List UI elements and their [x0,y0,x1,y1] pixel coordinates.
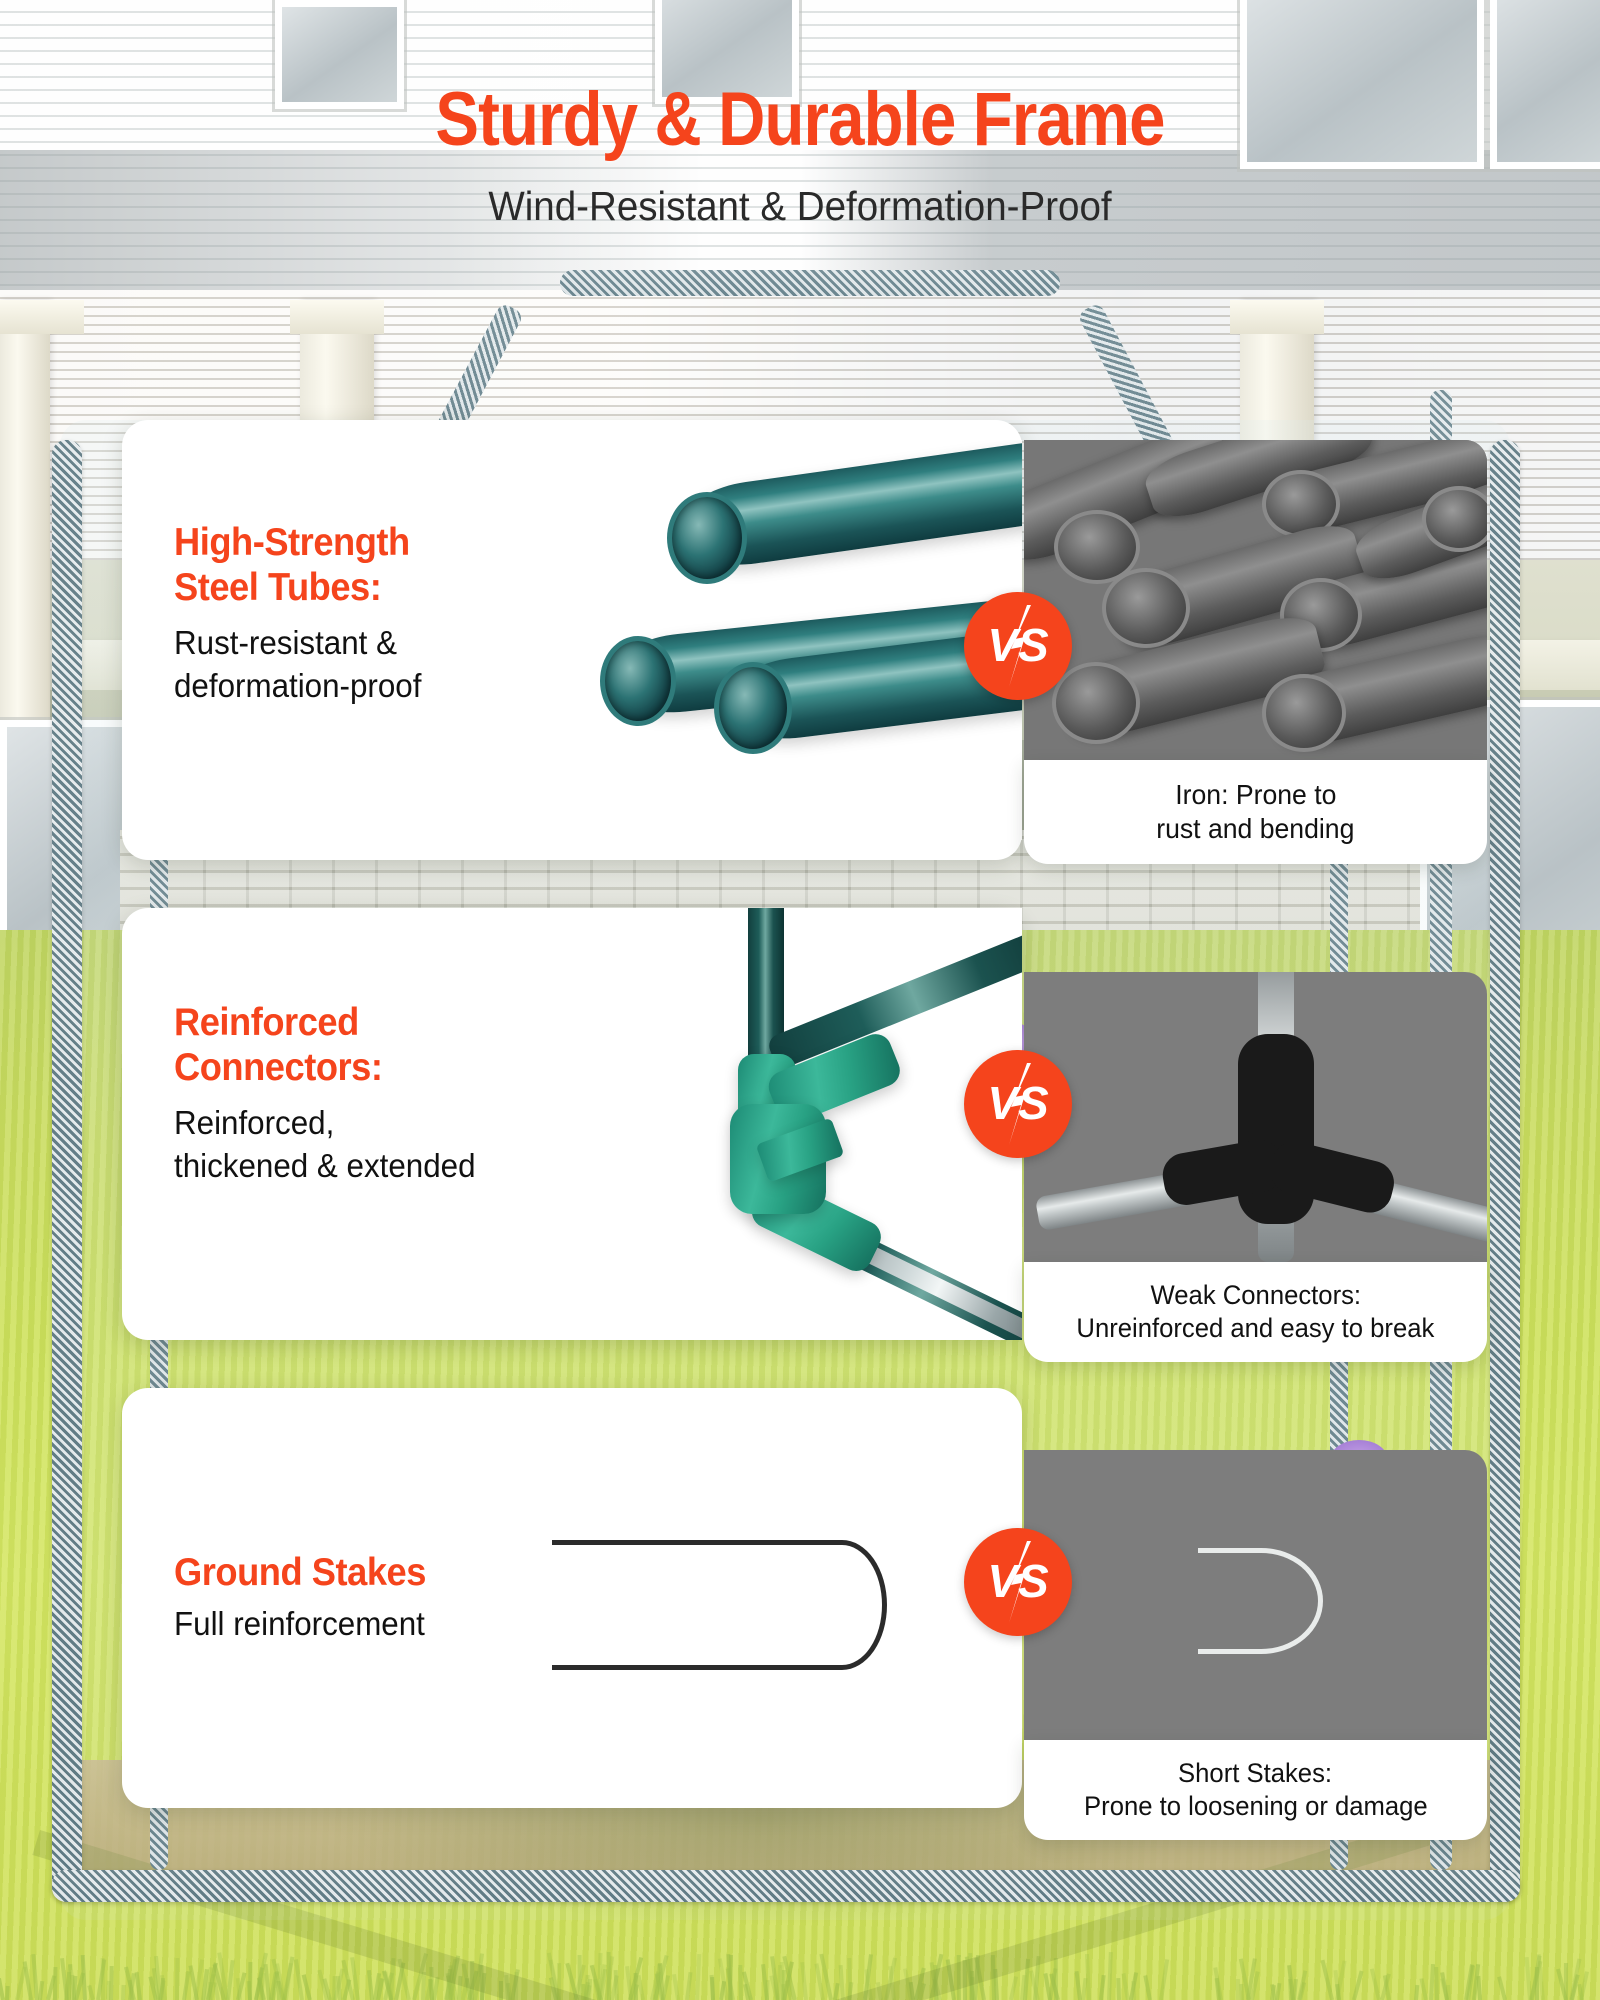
card-3-desc-line1: Full reinforcement [174,1603,516,1645]
greenhouse-post-left [52,440,82,1900]
card-2-compare-caption: Weak Connectors: Unreinforced and easy t… [1024,1262,1487,1362]
vs-badge-3: VS [964,1528,1072,1636]
vs-badge-2-glyph: VS [975,1061,1061,1147]
greenhouse-rail-bottom [52,1870,1520,1902]
iron-pipes-image [1024,440,1487,760]
tube-front-lower-end [600,636,676,726]
card-3-caption-line1: Short Stakes: [1179,1757,1333,1790]
greenhouse-post-right [1490,440,1520,1900]
short-stake-photo [1024,1450,1487,1740]
card-2-text: Reinforced Connectors: Reinforced, thick… [174,1000,534,1187]
card-1-title-line1: High-Strength [174,520,481,565]
card-3-text: Ground Stakes Full reinforcement [174,1550,534,1645]
card-1-desc-line1: Rust-resistant & [174,622,488,664]
vs-badge-1: VS [964,592,1072,700]
card-1-desc: Rust-resistant & deformation-proof [174,622,488,706]
vs-badge-1-glyph: VS [975,603,1061,689]
card-1-title: High-Strength Steel Tubes: [174,520,481,610]
card-3-caption-line2: Prone to loosening or damage [1084,1790,1428,1823]
greenhouse-arch-top [560,270,1060,296]
card-2-caption-line2: Unreinforced and easy to break [1077,1312,1435,1345]
card-2-caption-line1: Weak Connectors: [1150,1279,1361,1312]
card-1-text: High-Strength Steel Tubes: Rust-resistan… [174,520,504,707]
card-3-compare-caption: Short Stakes: Prone to loosening or dama… [1024,1740,1487,1840]
green-reinforced-connector-photo [522,908,1022,1340]
card-1-caption-line1: Iron: Prone to [1175,778,1336,812]
card-2-title-line2: Connectors: [174,1045,509,1090]
card-3-desc: Full reinforcement [174,1603,516,1645]
card-2-desc: Reinforced, thickened & extended [174,1102,516,1186]
card-2-title-line1: Reinforced [174,1000,509,1045]
feature-card-steel-tubes: High-Strength Steel Tubes: Rust-resistan… [122,420,1022,860]
black-weak-connector-photo [1024,972,1487,1262]
green-steel-tubes-photo [522,440,1022,840]
feature-card-ground-stakes: Ground Stakes Full reinforcement [122,1388,1022,1808]
card-2-title: Reinforced Connectors: [174,1000,509,1090]
tube-front-right-end [714,662,792,754]
card-1-title-line2: Steel Tubes: [174,565,481,610]
card-1-desc-line2: deformation-proof [174,665,488,707]
vs-badge-2: VS [964,1050,1072,1158]
card-1-compare-caption: Iron: Prone to rust and bending [1024,760,1487,864]
header: Sturdy & Durable Frame Wind-Resistant & … [0,0,1600,227]
short-stake-wire [1198,1548,1323,1654]
card-2-desc-line2: thickened & extended [174,1145,516,1187]
infographic-root: Sturdy & Durable Frame Wind-Resistant & … [0,0,1600,2000]
iron-pipes-photo [1024,440,1487,760]
page-title: Sturdy & Durable Frame [112,82,1488,158]
card-3-title-line1: Ground Stakes [174,1550,509,1595]
tube-rear-end [667,492,747,584]
page-subtitle: Wind-Resistant & Deformation-Proof [48,186,1552,227]
vs-badge-3-glyph: VS [975,1539,1061,1625]
card-3-title: Ground Stakes [174,1550,509,1595]
connector-diagonal-pipe-upper [766,919,1022,1070]
long-ground-stake-photo [522,1478,1022,1718]
card-2-desc-line1: Reinforced, [174,1102,516,1144]
feature-card-reinforced-connectors: Reinforced Connectors: Reinforced, thick… [122,908,1022,1340]
ground-stake-wire [552,1540,887,1670]
card-1-caption-line2: rust and bending [1156,812,1354,846]
